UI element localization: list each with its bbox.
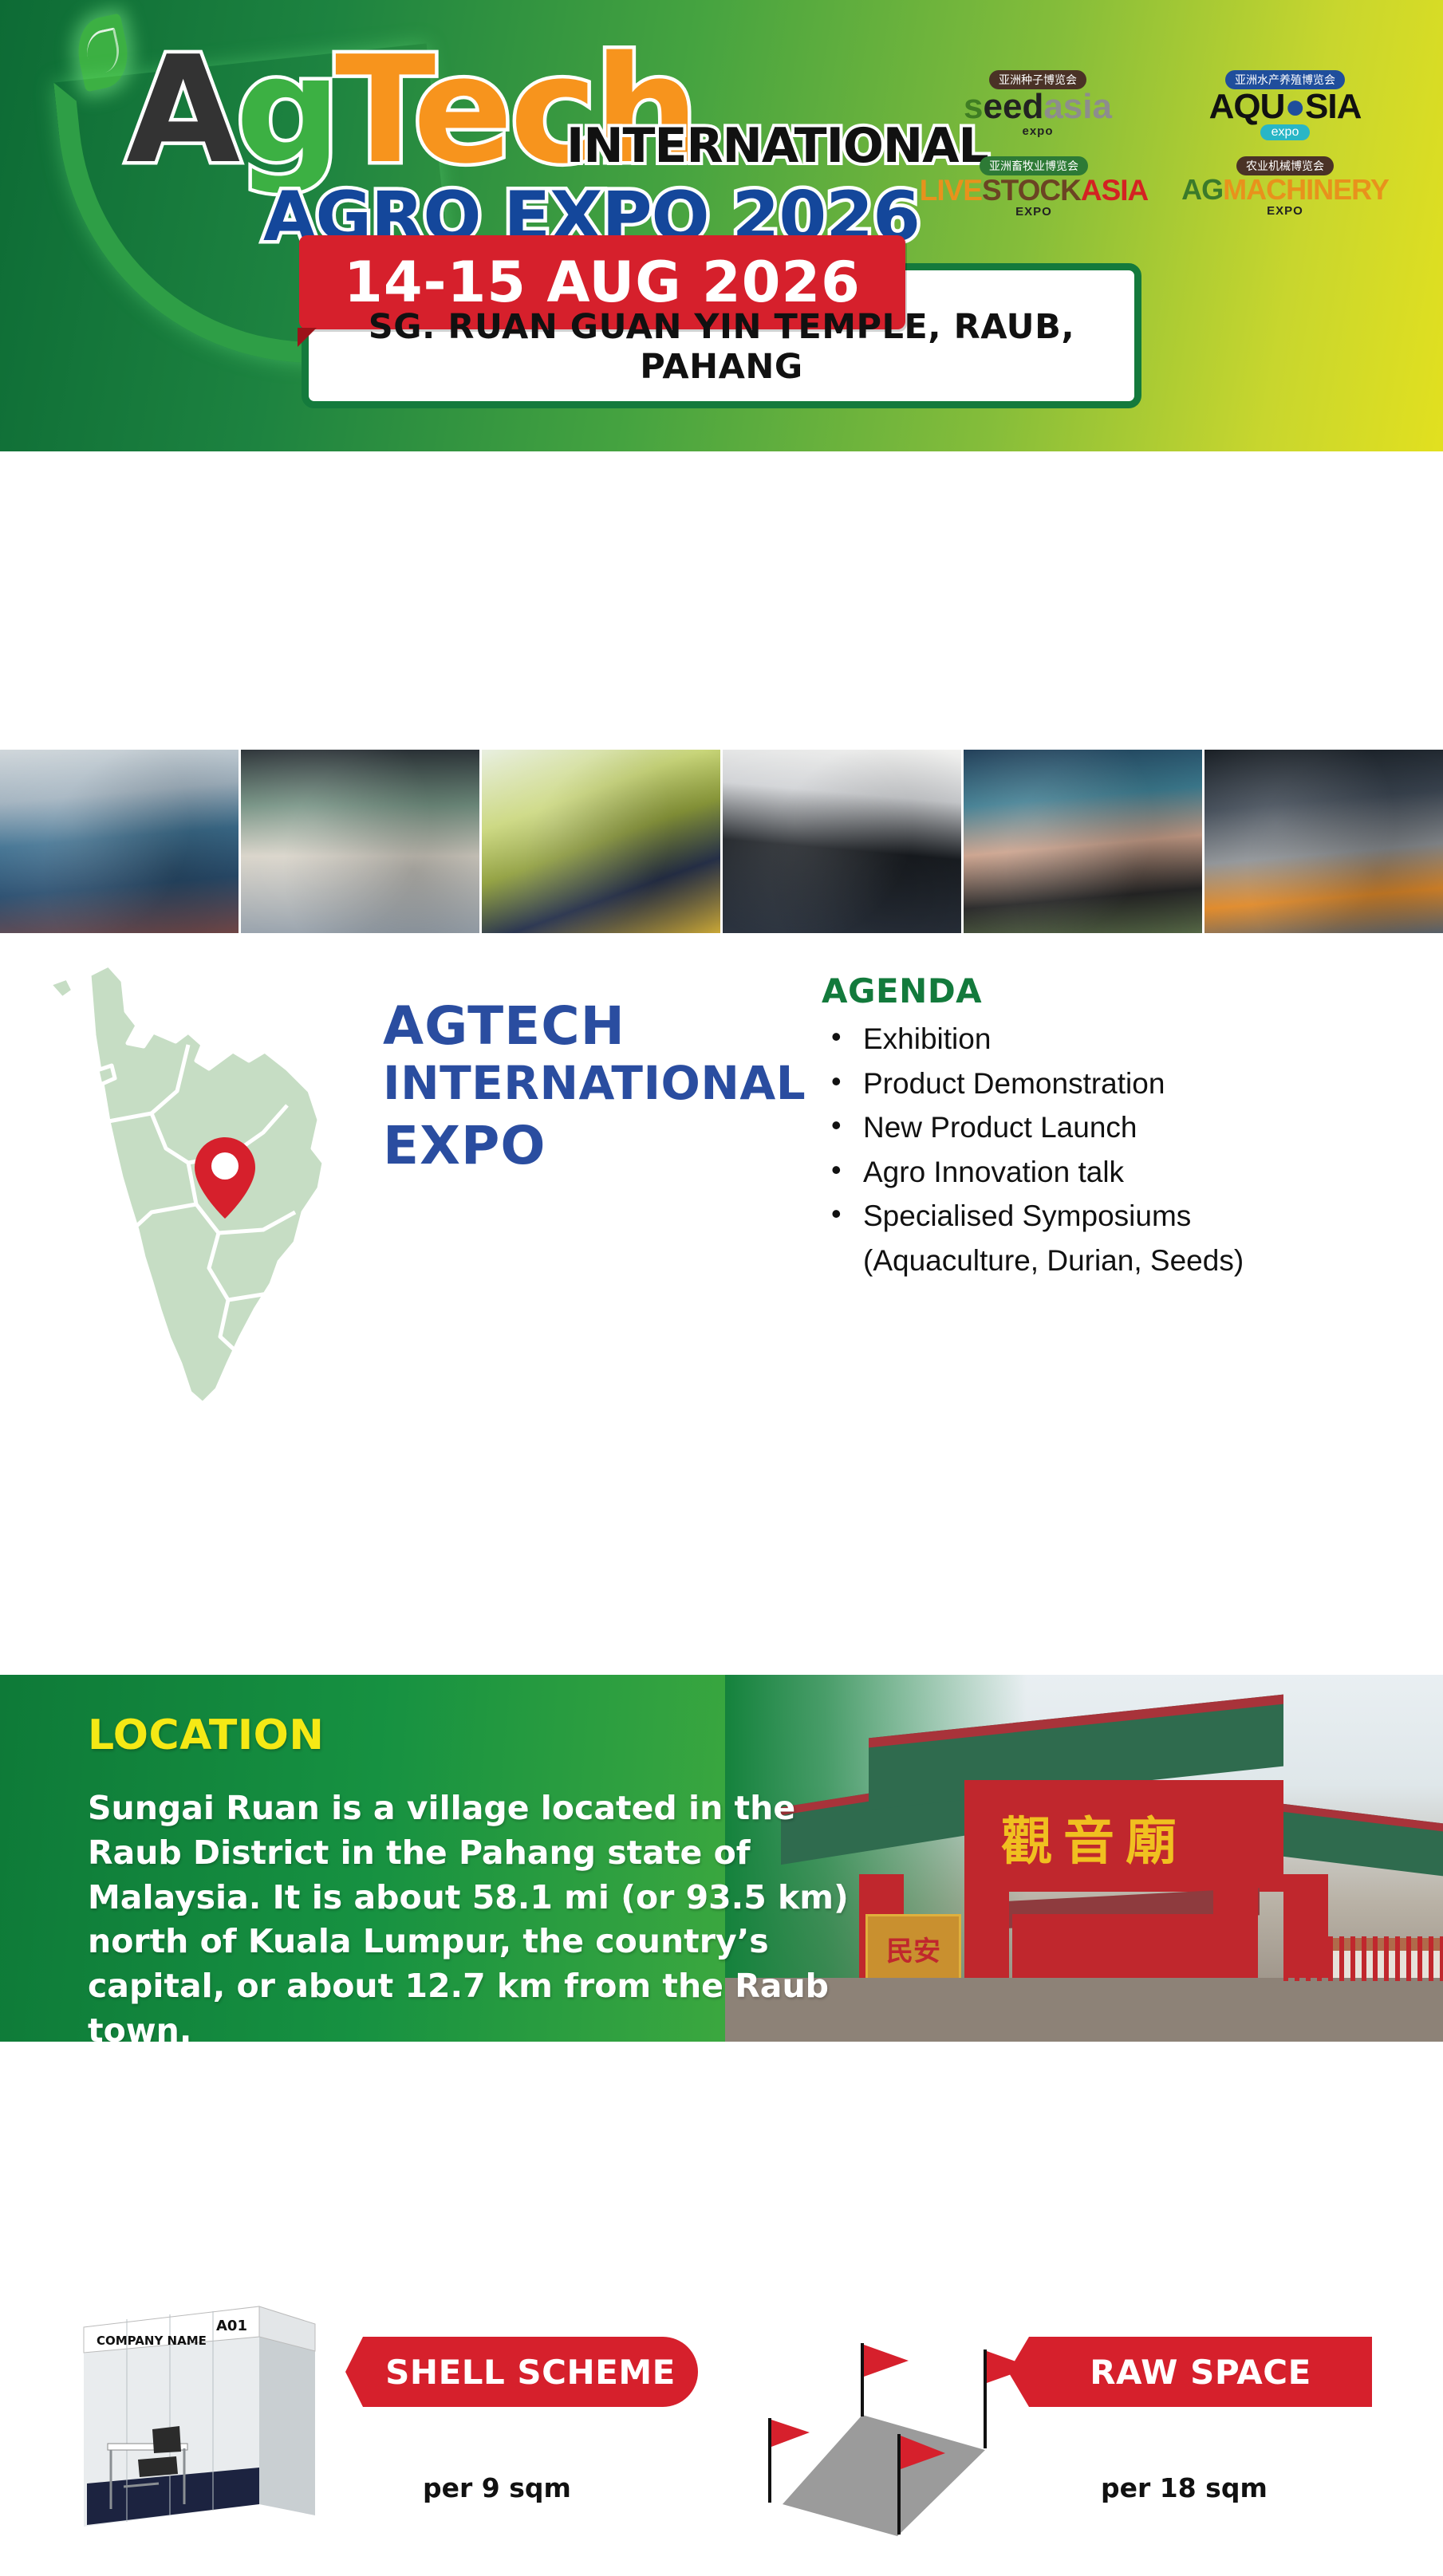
brand-seed-asia: 亚洲种子博览会 seedasia expo [926, 70, 1149, 138]
shell-scheme-label: SHELL SCHEME [385, 2353, 676, 2392]
expo-title-line2: INTERNATIONAL [383, 1056, 798, 1112]
logo-ag-letter-g: g [235, 24, 336, 196]
temple-left-plaque: 民安 [865, 1914, 961, 1983]
location-description: Sungai Ruan is a village located in the … [88, 1786, 854, 2042]
brand-aquasia-wordmark: AQU●SIA [1165, 89, 1405, 124]
agenda-item: New Product Launch [822, 1105, 1396, 1150]
photo-exhibitors [964, 750, 1202, 933]
date-venue-plate: 14-15 AUG 2026 SG. RUAN GUAN YIN TEMPLE,… [302, 263, 1141, 408]
raw-space-banner: RAW SPACE [1029, 2337, 1372, 2407]
location-section: 觀音廟 民安 LOCATION Sungai Ruan is a village… [0, 1675, 1443, 2042]
agenda-item: Specialised Symposiums (Aquaculture, Dur… [822, 1194, 1396, 1282]
agenda-item: Agro Innovation talk [822, 1150, 1396, 1195]
expo-title-line1: AGTECH [383, 997, 798, 1056]
event-venue: SG. RUAN GUAN YIN TEMPLE, RAUB, PAHANG [309, 307, 1134, 387]
brand-livestock-wordmark: LIVESTOCKASIA [918, 175, 1149, 205]
brand-livestock-cn: 亚洲畜牧业博览会 [980, 156, 1088, 175]
event-photo-strip [0, 750, 1443, 933]
shell-scheme-banner: SHELL SCHEME [363, 2337, 698, 2407]
expo-info-section: AGTECH INTERNATIONAL EXPO AGENDA Exhibit… [0, 933, 1443, 1667]
photo-audience [1204, 750, 1443, 933]
expo-title-line3: EXPO [383, 1112, 798, 1180]
location-text-block: LOCATION Sungai Ruan is a village locate… [88, 1711, 854, 2042]
brand-aquasia-expo: expo [1260, 124, 1311, 140]
brand-agmachinery-expo: EXPO [1157, 204, 1413, 218]
brand-seed-asia-expo: expo [926, 124, 1149, 138]
header-banner: Ag Tech INTERNATIONAL AGRO EXPO 2026 亚洲种… [0, 0, 1443, 451]
temple-sign: 觀音廟 [1001, 1801, 1188, 1874]
brand-livestock-asia: 亚洲畜牧业博览会 LIVESTOCKASIA EXPO [918, 156, 1149, 219]
agenda-title: AGENDA [822, 971, 1396, 1010]
sponsors-section: ORGANISER 主办单位 AG Exhibition Sdn Bhd MED… [0, 451, 1443, 746]
agenda-item-label: Specialised Symposiums [863, 1199, 1191, 1232]
event-date: 14-15 AUG 2026 [344, 250, 861, 315]
seed-leaf-icon: s [964, 87, 983, 126]
photo-booth-visitors [241, 750, 479, 933]
shell-scheme-price-unit: per 9 sqm [423, 2472, 571, 2503]
booth-number: A01 [216, 2318, 247, 2334]
agenda-block: AGENDA Exhibition Product Demonstration … [822, 971, 1396, 1282]
photo-ribbon-cutting [482, 750, 720, 933]
malaysia-map [32, 949, 367, 1428]
logo-ag-letter-a: A [126, 24, 235, 196]
booth-company-name: COMPANY NAME [97, 2334, 207, 2348]
photo-seminar-speaker [723, 750, 961, 933]
raw-space-label: RAW SPACE [1090, 2353, 1311, 2392]
brand-agmachinery: 农业机械博览会 AGMACHINERY EXPO [1157, 156, 1413, 218]
shell-scheme-booth-image: COMPANY NAME A01 [76, 2295, 347, 2535]
fish-icon: ● [1284, 87, 1305, 126]
agenda-item: Product Demonstration [822, 1062, 1396, 1106]
brand-livestock-expo: EXPO [918, 205, 1149, 219]
raw-space-image [746, 2305, 1033, 2544]
agenda-item-sublabel: (Aquaculture, Durian, Seeds) [863, 1239, 1396, 1283]
expo-title: AGTECH INTERNATIONAL EXPO [383, 997, 798, 1180]
sub-brand-logos: 亚洲种子博览会 seedasia expo 亚洲水产养殖博览会 AQU●SIA … [918, 70, 1413, 238]
raw-space-price-unit: per 18 sqm [1101, 2472, 1268, 2503]
temple-fence [1283, 1936, 1443, 1981]
photo-visitor-registration [0, 750, 239, 933]
logo-ag: Ag [126, 41, 337, 180]
location-title: LOCATION [88, 1711, 854, 1759]
brand-seed-asia-wordmark: seedasia [926, 89, 1149, 124]
brand-aquasia: 亚洲水产养殖博览会 AQU●SIA expo [1165, 70, 1405, 140]
map-pin-icon [191, 1134, 258, 1222]
booth-options: COMPANY NAME A01 SHELL SCHEME per 9 sqm … [0, 2289, 1443, 2576]
agenda-item: Exhibition [822, 1017, 1396, 1062]
brand-agmachinery-wordmark: AGMACHINERY [1157, 175, 1413, 204]
agenda-list: Exhibition Product Demonstration New Pro… [822, 1017, 1396, 1282]
